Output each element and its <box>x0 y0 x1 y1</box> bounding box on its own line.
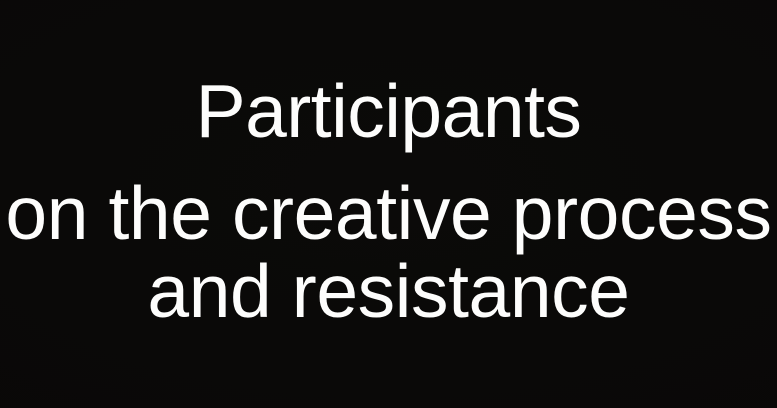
caption-line-3: and resistance <box>0 254 777 329</box>
caption-block: Participants on the creative process and… <box>0 0 777 408</box>
title-card-slide: Participants on the creative process and… <box>0 0 777 408</box>
caption-line-2: on the creative process <box>0 176 777 251</box>
caption-line-1: Participants <box>0 74 777 149</box>
